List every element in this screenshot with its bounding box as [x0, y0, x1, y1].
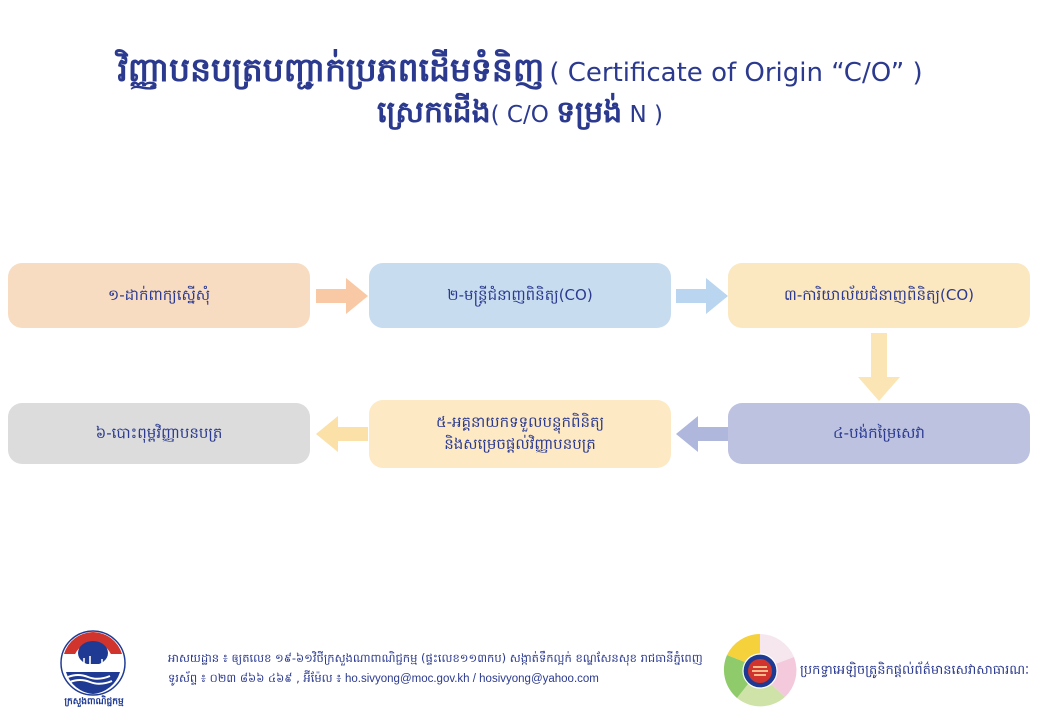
public-service-portal-logo: [722, 633, 798, 709]
address-value: ឲ្យតលេខ ១៩-៦១វិថីក្រសួងណាពាណិជ្ជកម្ម (ផ្…: [231, 651, 702, 665]
phone-value: ០២៣ ៨៦៦ ៤៦៩ ,: [210, 671, 300, 685]
ministry-logo-caption: ក្រសួងពាណិជ្ជកម្ម: [46, 696, 142, 709]
page-footer: ក្រសួងពាណិជ្ជកម្ម អាសយដ្ឋាន ៖ ឲ្យតលេខ ១៩…: [0, 0, 1040, 720]
ministry-of-commerce-logo: ក្រសួងពាណិជ្ជកម្ម: [46, 630, 142, 716]
portal-caption: ប្រកទ្វាអេឡិចត្រូនិកផ្តល់ព័ត៌មានសេវាសាធា…: [800, 662, 1029, 681]
email-value[interactable]: ho.sivyong@moc.gov.kh / hosivyong@yahoo.…: [345, 673, 599, 685]
address-label: អាសយដ្ឋាន ៖: [168, 651, 228, 665]
contact-info: អាសយដ្ឋាន ៖ ឲ្យតលេខ ១៩-៦១វិថីក្រសួងណាពាណ…: [168, 648, 698, 689]
ministry-emblem-icon: [60, 630, 126, 696]
address-line: អាសយដ្ឋាន ៖ ឲ្យតលេខ ១៩-៦១វិថីក្រសួងណាពាណ…: [168, 648, 698, 668]
phone-email-line: ទូរស័ព្ទ ៖ ០២៣ ៨៦៦ ៤៦៩ , អ៊ីម៉ែល ៖ ho.si…: [168, 668, 698, 689]
phone-label: ទូរស័ព្ទ ៖: [168, 671, 206, 685]
email-label: អ៊ីម៉ែល ៖: [303, 671, 341, 685]
